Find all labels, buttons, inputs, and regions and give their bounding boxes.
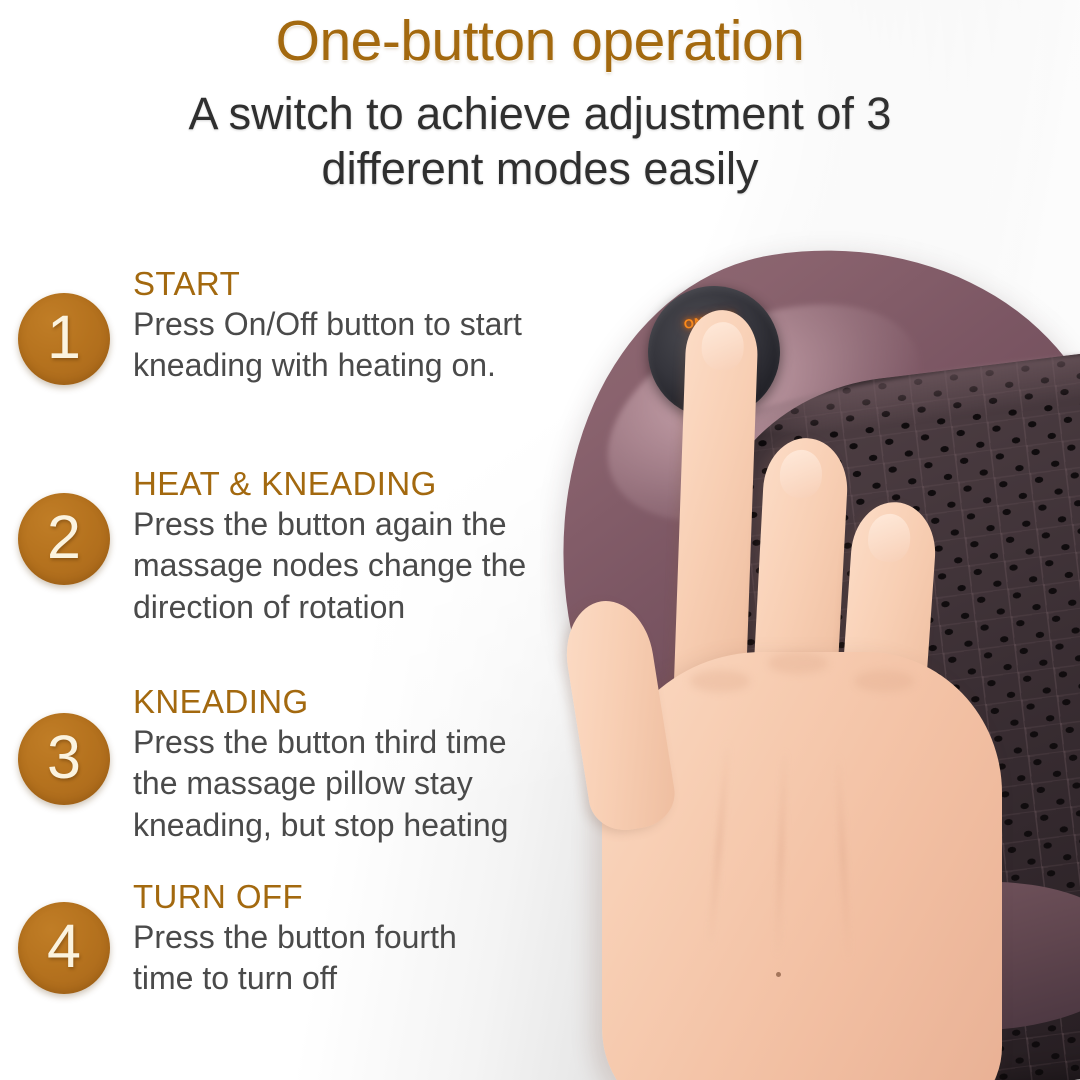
step-number: 4 [47, 916, 81, 977]
product-photo: ON/OFF [540, 200, 1080, 1080]
step-heading: HEAT & KNEADING [133, 465, 553, 503]
knuckle [768, 652, 828, 674]
fingernail [779, 449, 823, 499]
header: One-button operation A switch to achieve… [0, 0, 1080, 197]
step-description-line: massage nodes change the [133, 545, 553, 586]
step-description-line: time to turn off [133, 958, 553, 999]
step-number: 3 [47, 727, 81, 788]
index-finger [673, 309, 759, 711]
step-description-line: Press the button third time [133, 722, 553, 763]
hand [540, 200, 1080, 1080]
step-description: Press On/Off button to start kneading wi… [133, 304, 553, 387]
skin-mark [776, 972, 781, 977]
subtitle-line-1: A switch to achieve adjustment of 3 [100, 87, 980, 142]
page-subtitle: A switch to achieve adjustment of 3 diff… [100, 87, 980, 197]
step-description-line: Press On/Off button to start [133, 304, 553, 345]
infographic-canvas: One-button operation A switch to achieve… [0, 0, 1080, 1080]
step-number-badge: 3 [18, 713, 110, 805]
subtitle-line-2: different modes easily [100, 142, 980, 197]
step-number-badge: 4 [18, 902, 110, 994]
step-heading: START [133, 265, 553, 303]
step-heading: TURN OFF [133, 878, 553, 916]
step-number-badge: 1 [18, 293, 110, 385]
fingernail [701, 321, 745, 370]
step-body: TURN OFF Press the button fourth time to… [133, 878, 553, 1000]
step-description-line: the massage pillow stay [133, 763, 553, 804]
page-title: One-button operation [0, 8, 1080, 74]
step-description: Press the button again the massage nodes… [133, 504, 553, 628]
step-description: Press the button fourth time to turn off [133, 917, 553, 1000]
knuckle [854, 670, 914, 692]
step-description-line: Press the button fourth [133, 917, 553, 958]
step-body: START Press On/Off button to start knead… [133, 265, 553, 387]
step-body: HEAT & KNEADING Press the button again t… [133, 465, 553, 628]
step-number: 1 [47, 307, 81, 368]
thumb [559, 595, 680, 836]
knuckle [690, 670, 750, 692]
step-number: 2 [47, 507, 81, 568]
step-description: Press the button third time the massage … [133, 722, 553, 846]
step-heading: KNEADING [133, 683, 553, 721]
step-description-line: kneading, but stop heating [133, 805, 553, 846]
step-description-line: direction of rotation [133, 587, 553, 628]
step-description-line: Press the button again the [133, 504, 553, 545]
step-description-line: kneading with heating on. [133, 345, 553, 386]
step-number-badge: 2 [18, 493, 110, 585]
fingernail [867, 512, 912, 563]
step-body: KNEADING Press the button third time the… [133, 683, 553, 846]
